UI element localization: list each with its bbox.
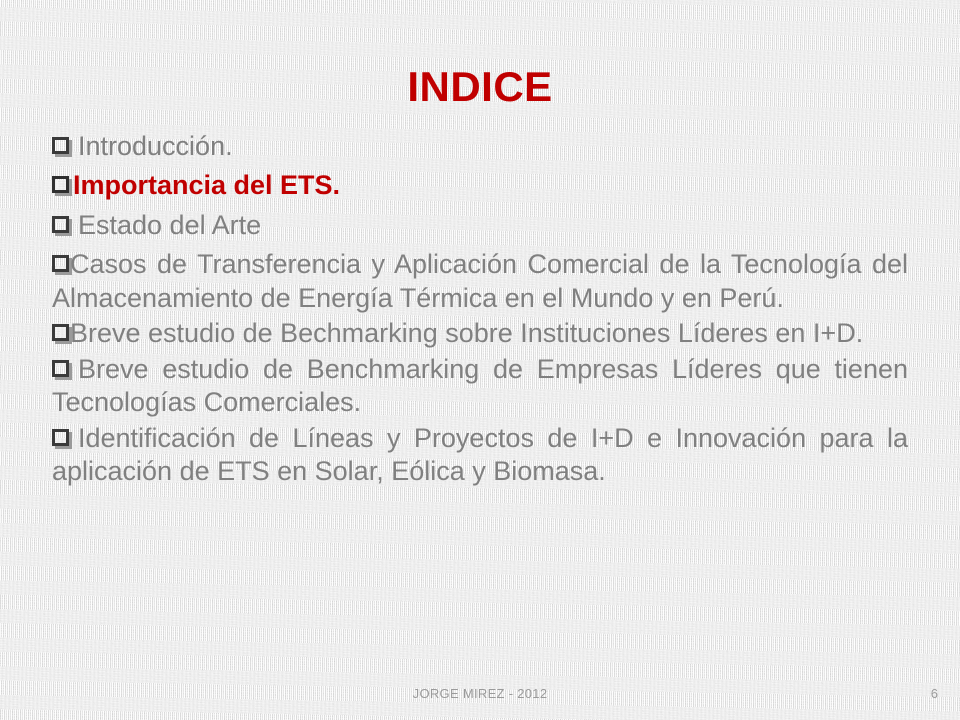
footer-author-text: JORGE MIREZ - 2012 <box>0 686 960 701</box>
outline-item: Importancia del ETS. <box>52 169 908 202</box>
square-bullet-icon <box>52 176 69 193</box>
square-bullet-icon <box>52 429 69 446</box>
outline-item-label: Importancia del ETS. <box>73 170 340 200</box>
outline-item: Casos de Transferencia y Aplicación Come… <box>52 248 908 315</box>
outline-item-label: Identificación de Líneas y Proyectos de … <box>52 423 908 486</box>
outline-item-label: Estado del Arte <box>78 210 261 240</box>
outline-item-label: Casos de Transferencia y Aplicación Come… <box>52 249 908 312</box>
square-bullet-icon <box>52 255 69 272</box>
outline-item: Breve estudio de Bechmarking sobre Insti… <box>52 317 908 350</box>
slide-page-number: 6 <box>931 686 938 701</box>
square-bullet-icon <box>52 360 69 377</box>
outline-list: Introducción.Importancia del ETS.Estado … <box>52 130 908 491</box>
square-bullet-icon <box>52 137 69 154</box>
slide-footer: JORGE MIREZ - 2012 6 <box>0 686 960 706</box>
outline-item-label: Breve estudio de Benchmarking de Empresa… <box>52 354 908 417</box>
outline-item-label: Introducción. <box>78 131 233 161</box>
outline-item-label: Breve estudio de Bechmarking sobre Insti… <box>70 318 863 348</box>
outline-item: Breve estudio de Benchmarking de Empresa… <box>52 353 908 420</box>
presentation-slide: INDICE Introducción.Importancia del ETS.… <box>0 0 960 720</box>
outline-item: Introducción. <box>52 130 908 163</box>
page-title: INDICE <box>0 66 960 108</box>
outline-item: Estado del Arte <box>52 209 908 242</box>
square-bullet-icon <box>52 216 69 233</box>
outline-item: Identificación de Líneas y Proyectos de … <box>52 422 908 489</box>
square-bullet-icon <box>52 324 69 341</box>
